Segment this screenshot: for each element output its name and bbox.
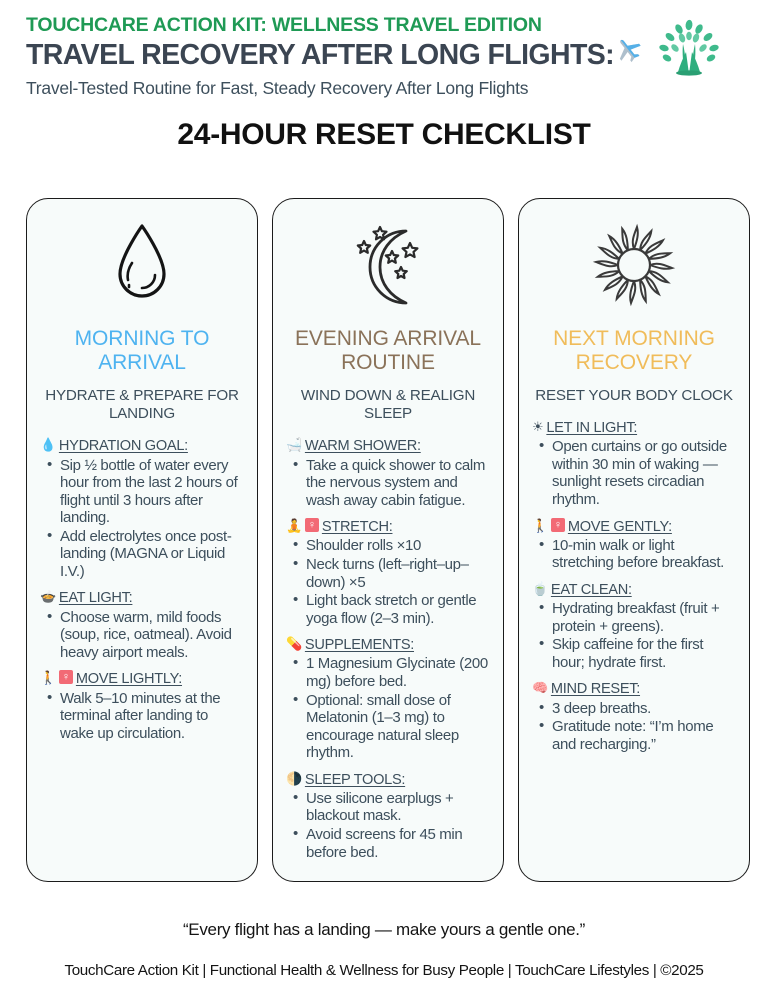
section-header: 🌗 SLEEP TOOLS: [286,771,490,789]
section-header: 🍲 EAT LIGHT: [40,589,244,607]
section-label: EAT LIGHT: [59,589,133,607]
section-label: MOVE GENTLY: [568,518,672,536]
section-move-gently: 🚶 ♀ MOVE GENTLY: 10-min walk or light st… [532,518,736,572]
checklist-cards: MORNING TO ARRIVAL HYDRATE & PREPARE FOR… [26,198,750,882]
section-label: WARM SHOWER: [305,437,421,455]
section-label: HYDRATION GOAL: [59,437,188,455]
section-bullets: 3 deep breaths. Gratitude note: “I’m hom… [532,700,736,754]
section-eat-clean: 🍵 EAT CLEAN: Hydrating breakfast (fruit … [532,581,736,671]
footer-credit: TouchCare Action Kit | Functional Health… [0,962,768,979]
list-item: Skip caffeine for the first hour; hydrat… [535,636,736,671]
section-bullets: 1 Magnesium Glycinate (200 mg) before be… [286,655,490,761]
section-label: EAT CLEAN: [551,581,632,599]
header-subtitle: Travel-Tested Routine for Fast, Steady R… [26,78,666,99]
list-item: Choose warm, mild foods (soup, rice, oat… [43,609,244,662]
female-sign-icon: ♀ [59,670,73,684]
list-item: Sip ½ bottle of water every hour from th… [43,457,244,527]
section-label: MIND RESET: [551,680,640,698]
card-sections: ☀ LET IN LIGHT: Open curtains or go outs… [532,419,736,753]
section-label: LET IN LIGHT: [546,419,637,437]
section-bullets: Choose warm, mild foods (soup, rice, oat… [40,609,244,662]
section-move-lightly: 🚶 ♀ MOVE LIGHTLY: Walk 5–10 minutes at t… [40,670,244,742]
section-bullets: Take a quick shower to calm the nervous … [286,457,490,510]
section-header: 💊 SUPPLEMENTS: [286,636,490,654]
header-main-title-text: TRAVEL RECOVERY AFTER LONG FLIGHTS: [26,40,614,72]
section-label: STRETCH: [322,518,393,536]
section-bullets: Open curtains or go outside within 30 mi… [532,438,736,508]
list-item: Take a quick shower to calm the nervous … [289,457,490,510]
female-sign-icon: ♀ [305,518,319,532]
header-main-title: TRAVEL RECOVERY AFTER LONG FLIGHTS: [26,37,666,75]
last-quarter-moon-icon: 🌗 [286,771,302,788]
card-sections: 🛁 WARM SHOWER: Take a quick shower to ca… [286,437,490,861]
list-item: Avoid screens for 45 min before bed. [289,826,490,861]
airplane-icon [612,35,646,73]
female-sign-icon: ♀ [551,518,565,532]
section-label: SLEEP TOOLS: [305,771,405,789]
card-title: NEXT MORNING RECOVERY [532,327,736,375]
card-evening-arrival-routine: EVENING ARRIVAL ROUTINE WIND DOWN & REAL… [272,198,504,882]
card-subtitle: WIND DOWN & REALIGN SLEEP [286,387,490,423]
list-item: 1 Magnesium Glycinate (200 mg) before be… [289,655,490,690]
section-header: 🛁 WARM SHOWER: [286,437,490,455]
infographic-page: TOUCHCARE ACTION KIT: WELLNESS TRAVEL ED… [0,0,768,994]
list-item: Add electrolytes once post-landing (MAGN… [43,528,244,581]
header-kicker: TOUCHCARE ACTION KIT: WELLNESS TRAVEL ED… [26,14,666,36]
list-item: Hydrating breakfast (fruit + protein + g… [535,600,736,635]
section-bullets: Sip ½ bottle of water every hour from th… [40,457,244,581]
section-bullets: Use silicone earplugs + blackout mask. A… [286,790,490,861]
droplet-icon: 💧 [40,437,56,454]
crescent-moon-stars-icon [286,217,490,313]
section-header: 🚶 ♀ MOVE LIGHTLY: [40,670,244,688]
section-stretch: 🧘 ♀ STRETCH: Shoulder rolls ×10 Neck tur… [286,518,490,627]
list-item: Open curtains or go outside within 30 mi… [535,438,736,508]
section-bullets: Hydrating breakfast (fruit + protein + g… [532,600,736,671]
brain-icon: 🧠 [532,680,548,697]
card-subtitle: RESET YOUR BODY CLOCK [532,387,736,405]
list-item: Gratitude note: “I’m home and recharging… [535,718,736,753]
bathtub-icon: 🛁 [286,437,302,454]
header: TOUCHCARE ACTION KIT: WELLNESS TRAVEL ED… [26,14,752,94]
pot-of-food-icon: 🍲 [40,589,56,606]
walking-person-icon: 🚶 [532,518,548,535]
walking-person-icon: 🚶 [40,670,56,687]
list-item: 3 deep breaths. [535,700,736,718]
section-mind-reset: 🧠 MIND RESET: 3 deep breaths. Gratitude … [532,680,736,753]
section-sleep-tools: 🌗 SLEEP TOOLS: Use silicone earplugs + b… [286,771,490,861]
list-item: Optional: small dose of Melatonin (1–3 m… [289,692,490,762]
card-title: EVENING ARRIVAL ROUTINE [286,327,490,375]
list-item: Neck turns (left–right–up–down) ×5 [289,556,490,591]
bowl-icon: 🍵 [532,581,548,598]
section-bullets: 10-min walk or light stretching before b… [532,537,736,572]
list-item: Light back stretch or gentle yoga flow (… [289,592,490,627]
section-header: 💧 HYDRATION GOAL: [40,437,244,455]
section-label: SUPPLEMENTS: [305,636,414,654]
stretching-person-icon: 🧘 [286,518,302,535]
section-header: 🧘 ♀ STRETCH: [286,518,490,536]
section-bullets: Shoulder rolls ×10 Neck turns (left–righ… [286,537,490,627]
sun-rays-icon [532,217,736,313]
header-text-block: TOUCHCARE ACTION KIT: WELLNESS TRAVEL ED… [26,14,666,99]
list-item: 10-min walk or light stretching before b… [535,537,736,572]
card-morning-to-arrival: MORNING TO ARRIVAL HYDRATE & PREPARE FOR… [26,198,258,882]
section-bullets: Walk 5–10 minutes at the terminal after … [40,690,244,743]
sun-icon: ☀ [532,419,543,436]
pill-capsule-icon: 💊 [286,636,302,653]
list-item: Shoulder rolls ×10 [289,537,490,555]
section-supplements: 💊 SUPPLEMENTS: 1 Magnesium Glycinate (20… [286,636,490,762]
section-let-in-light: ☀ LET IN LIGHT: Open curtains or go outs… [532,419,736,508]
tree-logo [654,16,724,80]
card-next-morning-recovery: NEXT MORNING RECOVERY RESET YOUR BODY CL… [518,198,750,882]
section-header: 🧠 MIND RESET: [532,680,736,698]
section-label: MOVE LIGHTLY: [76,670,182,688]
card-sections: 💧 HYDRATION GOAL: Sip ½ bottle of water … [40,437,244,742]
section-header: 🚶 ♀ MOVE GENTLY: [532,518,736,536]
list-item: Use silicone earplugs + blackout mask. [289,790,490,825]
section-warm-shower: 🛁 WARM SHOWER: Take a quick shower to ca… [286,437,490,509]
water-drop-icon [40,217,244,313]
section-hydration-goal: 💧 HYDRATION GOAL: Sip ½ bottle of water … [40,437,244,580]
card-title: MORNING TO ARRIVAL [40,327,244,375]
footer-quote: “Every flight has a landing — make yours… [0,920,768,940]
list-item: Walk 5–10 minutes at the terminal after … [43,690,244,743]
section-eat-light: 🍲 EAT LIGHT: Choose warm, mild foods (so… [40,589,244,661]
section-header: ☀ LET IN LIGHT: [532,419,736,437]
card-subtitle: HYDRATE & PREPARE FOR LANDING [40,387,244,423]
page-title: 24-HOUR RESET CHECKLIST [0,118,768,152]
section-header: 🍵 EAT CLEAN: [532,581,736,599]
